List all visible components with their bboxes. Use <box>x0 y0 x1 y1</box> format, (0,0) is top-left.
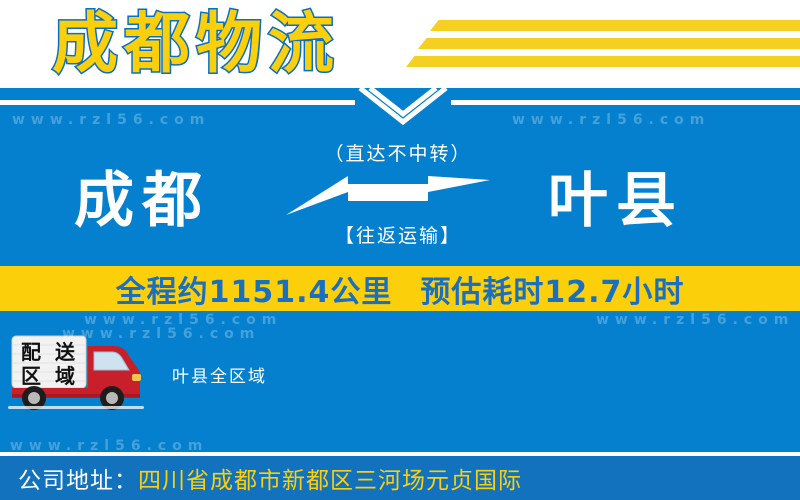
truck-label-char-3: 区 <box>21 364 41 388</box>
chevron-down-icon <box>356 86 450 130</box>
page-title: 成都物流 <box>52 2 340 86</box>
route-note-bottom: 【往返运输】 <box>288 224 508 248</box>
decor-stripe-1 <box>430 20 800 31</box>
company-address: 公司地址： 四川省成都市新都区三河场元贞国际 <box>18 456 522 500</box>
truck-label-char-4: 域 <box>55 364 75 388</box>
coverage-area-label: 叶县全区域 <box>172 366 267 388</box>
truck-label-char-2: 送 <box>55 340 76 364</box>
banner-header: 成都物流 <box>0 0 800 88</box>
origin-city: 成都 <box>74 166 210 236</box>
address-value: 四川省成都市新都区三河场元贞国际 <box>138 461 522 495</box>
watermark: www.rzl56.com <box>12 112 210 128</box>
truck-label-char-1: 配 <box>21 340 41 364</box>
watermark: www.rzl56.com <box>512 112 710 128</box>
watermark: www.rzl56.com <box>596 312 794 328</box>
address-label: 公司地址： <box>18 461 138 495</box>
watermark: www.rzl56.com <box>84 312 282 328</box>
delivery-truck-icon: 配 送 区 域 <box>8 332 148 410</box>
duration-value: 预估耗时12.7小时 <box>420 267 684 311</box>
stats-band: 全程约1151.4公里 预估耗时12.7小时 <box>0 266 800 311</box>
double-arrow-icon <box>286 176 490 220</box>
stats-text: 全程约1151.4公里 预估耗时12.7小时 <box>0 266 800 311</box>
decor-stripe-3 <box>406 56 800 67</box>
distance-value: 全程约1151.4公里 <box>116 267 393 311</box>
route-note-top: （直达不中转） <box>288 142 508 166</box>
footer-bar: 公司地址： 四川省成都市新都区三河场元贞国际 <box>0 456 800 500</box>
decor-stripe-2 <box>418 38 800 49</box>
destination-city: 叶县 <box>548 166 684 236</box>
logistics-banner: 成都物流 成都 （直达不中转） 【往返运输】 叶县 全程约1151.4公里 预估… <box>0 0 800 500</box>
